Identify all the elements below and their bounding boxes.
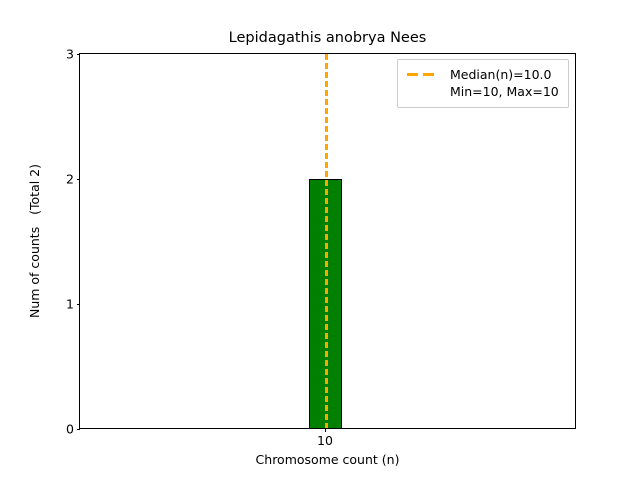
- y-tick-label-0: 0: [66, 423, 74, 436]
- x-tick-mark-10: [325, 428, 326, 432]
- legend-dashed-line-icon: [407, 66, 441, 83]
- chart-figure: Lepidagathis anobrya Nees Num of counts …: [0, 0, 640, 480]
- y-axis-label-text: Num of counts (Total 2): [28, 164, 42, 318]
- legend-label-median: Median(n)=10.0: [450, 66, 559, 83]
- y-tick-label-2: 2: [66, 173, 74, 186]
- y-axis-label: Num of counts (Total 2): [27, 53, 43, 429]
- y-tick-label-1: 1: [66, 298, 74, 311]
- chart-title: Lepidagathis anobrya Nees: [79, 29, 576, 47]
- legend-label-minmax: Min=10, Max=10: [450, 83, 559, 100]
- plot-axes: 0 1 2 3 10: [79, 53, 576, 429]
- chart-legend[interactable]: Median(n)=10.0 Min=10, Max=10: [397, 59, 569, 108]
- median-line: [325, 54, 328, 428]
- plot-area: [80, 54, 575, 428]
- y-tick-mark-0: [77, 429, 81, 430]
- x-tick-label-10: 10: [317, 434, 333, 448]
- legend-entry-text: Median(n)=10.0 Min=10, Max=10: [450, 66, 559, 100]
- y-tick-label-3: 3: [66, 48, 74, 61]
- x-axis-label: Chromosome count (n): [79, 452, 576, 467]
